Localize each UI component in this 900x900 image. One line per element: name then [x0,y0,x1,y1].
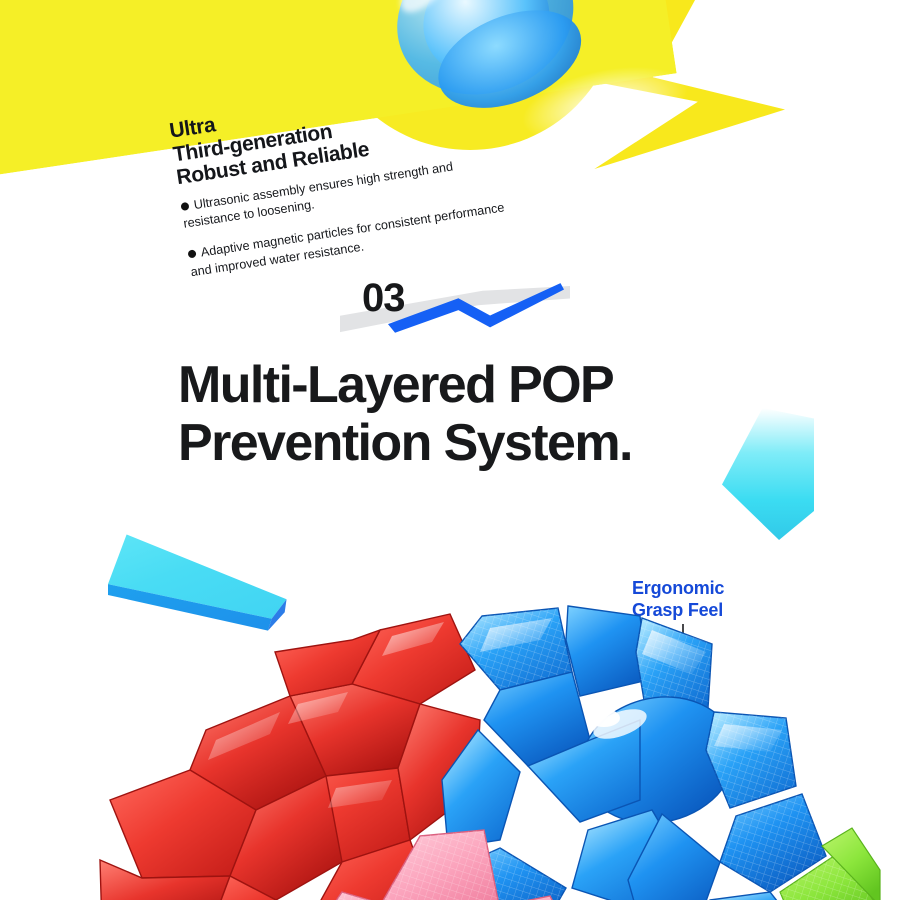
puzzle-face-blue [442,606,826,900]
heading-line-2: Prevention System. [178,414,778,472]
bullet-dot-icon [180,201,189,210]
heading-line-1: Multi-Layered POP [178,356,613,414]
bullet-dot-icon [188,250,197,259]
section-number-block: 03 [340,272,590,342]
product-image-megaminx [80,600,900,900]
section-number: 03 [362,278,405,318]
product-marketing-page: Ultra Third-generation Robust and Reliab… [0,0,900,900]
callout-line-1: Ergonomic [632,578,724,598]
page-title: Multi-Layered POP Prevention System. [178,356,778,472]
